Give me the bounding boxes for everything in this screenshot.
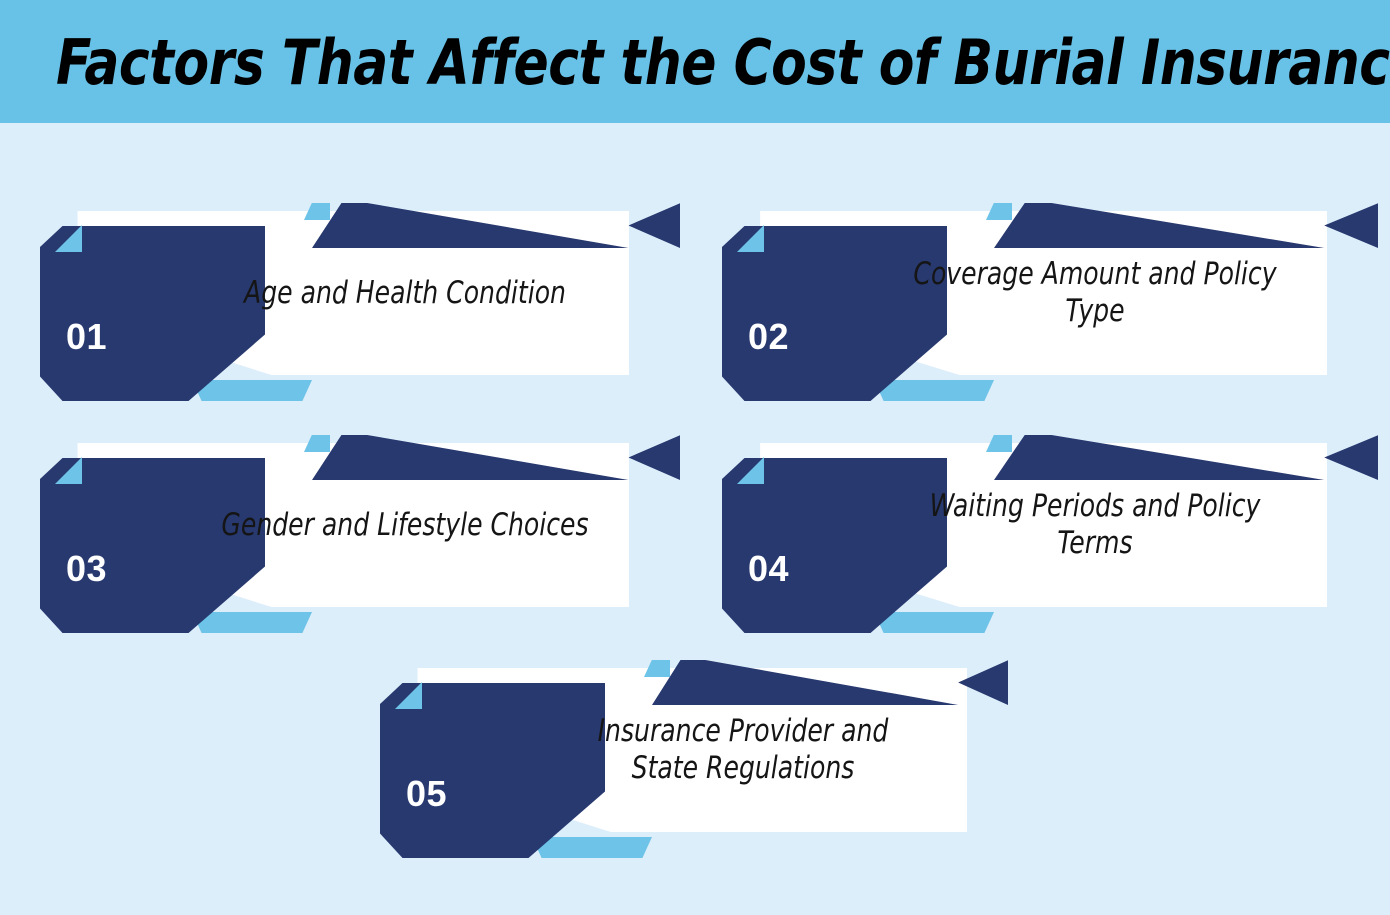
card-bottom-accent-bar: [874, 380, 994, 401]
card-text-line-2: State Regulations: [598, 750, 889, 787]
card-text-line-1: Insurance Provider and: [598, 713, 889, 750]
card-number-label: 05: [406, 773, 516, 815]
card-number-label: 03: [66, 548, 176, 590]
card-number-label: 04: [748, 548, 858, 590]
card-text-label: Insurance Provider and State Regulations: [551, 668, 934, 832]
card-text-label: Age and Health Condition: [212, 211, 599, 375]
infographic-root: Factors That Affect the Cost of Burial I…: [0, 0, 1390, 915]
card-text-label: Gender and Lifestyle Choices: [212, 443, 599, 607]
card-number-label: 01: [66, 316, 176, 358]
card-number-label: 02: [748, 316, 858, 358]
card-bottom-accent-bar: [874, 612, 994, 633]
card-bottom-accent-bar: [192, 612, 312, 633]
card-text-label: Waiting Periods and Policy Terms: [894, 443, 1295, 607]
page-title: Factors That Affect the Cost of Burial I…: [56, 24, 1265, 104]
card-bottom-accent-bar: [192, 380, 312, 401]
card-text-label: Coverage Amount and Policy Type: [894, 211, 1295, 375]
header-band: Factors That Affect the Cost of Burial I…: [0, 0, 1390, 123]
card-bottom-accent-bar: [532, 837, 652, 858]
